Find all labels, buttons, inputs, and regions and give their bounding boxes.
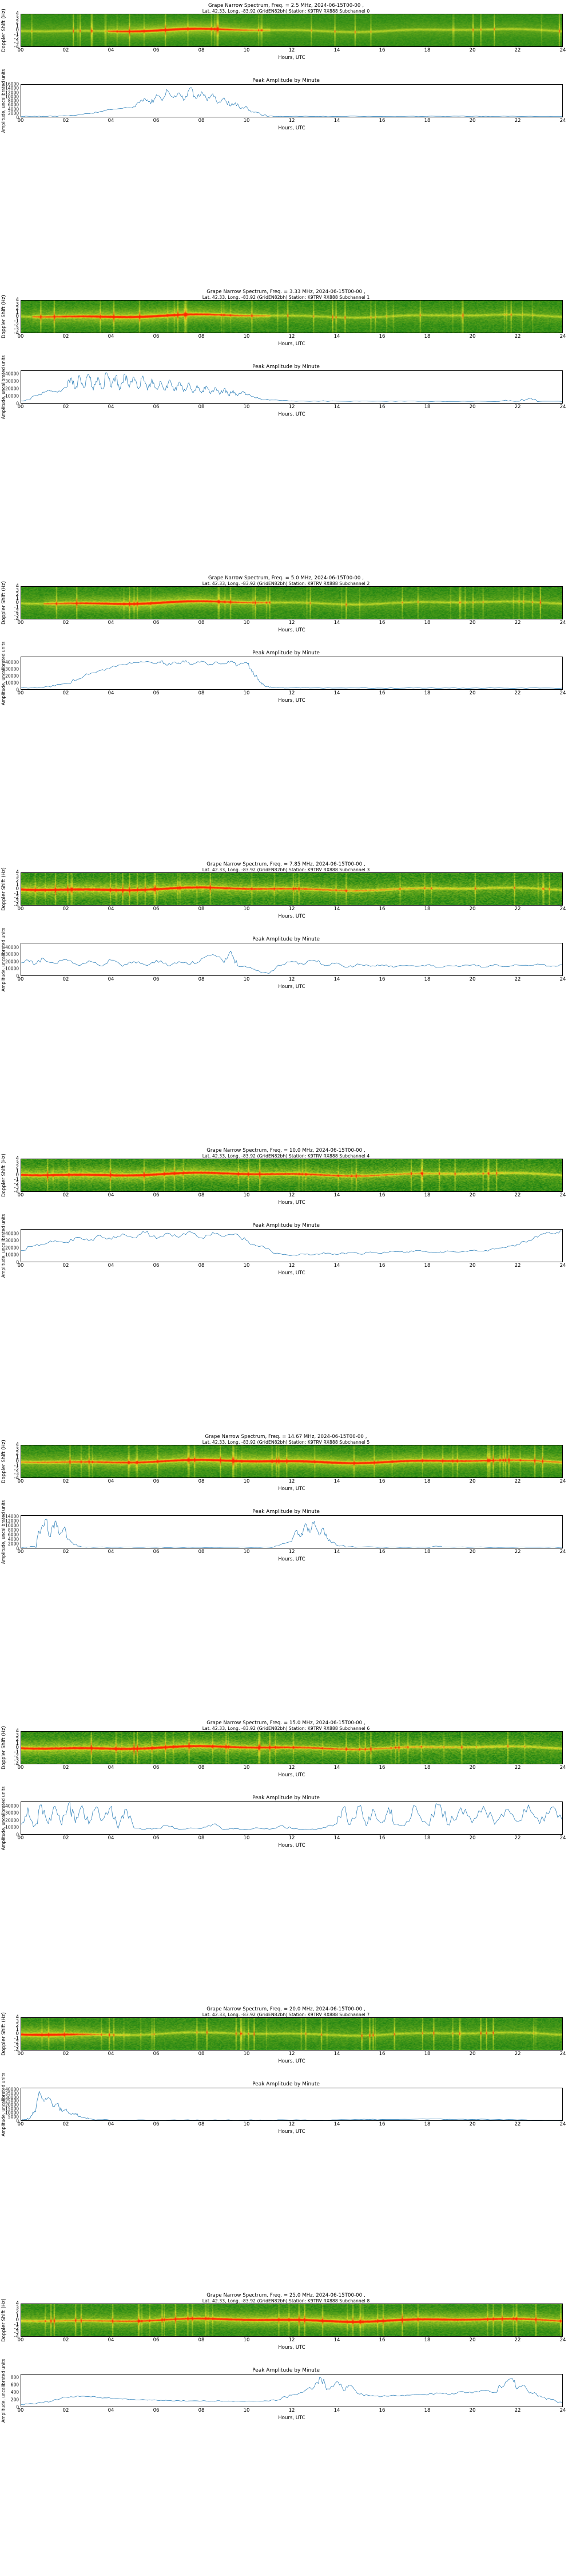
x-tick-label: 06 [153, 48, 160, 53]
x-tick-label: 08 [198, 1192, 205, 1198]
spectrogram-x-axis-label: Hours, UTC [21, 1200, 563, 1206]
amplitude-block: Peak Amplitude by Minute Amplitude, unca… [0, 1223, 572, 1276]
x-tick-label: 08 [198, 2337, 205, 2343]
y-tick-label: 40000 [5, 2087, 19, 2092]
x-tick-label: 00 [18, 2051, 24, 2057]
title-line-2: Lat. 42.33, Long. -83.92 (GridEN82bh) St… [0, 9, 572, 14]
title-line-2: Lat. 42.33, Long. -83.92 (GridEN82bh) St… [0, 1726, 572, 1732]
x-tick-label: 22 [515, 2121, 521, 2127]
amplitude-y-ticks: 010000200003000040000 [7, 1229, 21, 1262]
x-tick-label: 00 [18, 906, 24, 912]
x-tick-label: 04 [108, 1192, 114, 1198]
x-tick-label: 00 [18, 1479, 24, 1484]
x-tick-label: 10 [244, 2337, 250, 2343]
amplitude-plot-area [21, 1229, 563, 1262]
x-tick-label: 02 [63, 1835, 69, 1841]
amplitude-y-ticks: 0200400600800 [7, 2374, 21, 2407]
right-margin [563, 1801, 572, 1835]
spectrogram-x-axis-label: Hours, UTC [21, 1772, 563, 1778]
amplitude-plot-area [21, 2088, 563, 2121]
x-tick-label: 04 [108, 2408, 114, 2413]
title-line-2: Lat. 42.33, Long. -83.92 (GridEN82bh) St… [0, 1440, 572, 1445]
x-tick-label: 16 [379, 1835, 386, 1841]
x-tick-label: 20 [470, 2337, 476, 2343]
spectrogram-x-ticks: 00020406081012141618202224 [21, 2337, 563, 2345]
x-tick-label: 16 [379, 1192, 386, 1198]
x-tick-label: 14 [334, 977, 340, 982]
spectrogram-x-ticks: 00020406081012141618202224 [21, 1478, 563, 1486]
x-tick-label: 20 [470, 1192, 476, 1198]
x-tick-label: 16 [379, 404, 386, 410]
x-tick-label: 06 [153, 2337, 160, 2343]
x-tick-label: 10 [244, 2121, 250, 2127]
spectrogram-block: Grape Narrow Spectrum, Freq. = 14.67 MHz… [0, 1435, 572, 1492]
x-tick-label: 06 [153, 2408, 160, 2413]
x-tick-label: 08 [198, 1765, 205, 1771]
x-tick-label: 22 [515, 404, 521, 410]
right-margin [563, 943, 572, 976]
spectrogram-block: Grape Narrow Spectrum, Freq. = 2.5 MHz, … [0, 3, 572, 61]
y-tick-label: 800 [11, 2375, 19, 2380]
x-tick-label: 02 [63, 620, 69, 626]
spectrogram-x-ticks: 00020406081012141618202224 [21, 619, 563, 627]
right-margin [563, 300, 572, 333]
x-tick-label: 16 [379, 334, 386, 339]
x-tick-label: 04 [108, 334, 114, 339]
x-tick-label: 10 [244, 1479, 250, 1484]
x-tick-label: 24 [560, 2408, 566, 2413]
right-margin [563, 1731, 572, 1764]
panel-group-subchannel-8: Grape Narrow Spectrum, Freq. = 25.0 MHz,… [0, 2290, 572, 2576]
right-margin [563, 872, 572, 906]
amplitude-x-axis-label: Hours, UTC [21, 2129, 563, 2135]
x-tick-label: 14 [334, 1192, 340, 1198]
x-tick-label: 10 [244, 1765, 250, 1771]
x-tick-label: 02 [63, 1549, 69, 1555]
panel-group-subchannel-1: Grape Narrow Spectrum, Freq. = 3.33 MHz,… [0, 286, 572, 572]
amplitude-line-chart [21, 1515, 563, 1548]
amplitude-x-ticks: 00020406081012141618202224 [21, 1262, 563, 1270]
spectrogram-title: Grape Narrow Spectrum, Freq. = 2.5 MHz, … [0, 3, 572, 14]
x-tick-label: 22 [515, 1549, 521, 1555]
x-tick-label: 20 [470, 118, 476, 124]
amplitude-x-axis-label: Hours, UTC [21, 2415, 563, 2421]
x-tick-label: 20 [470, 977, 476, 982]
x-tick-label: 00 [18, 2337, 24, 2343]
x-tick-label: 14 [334, 1479, 340, 1484]
x-tick-label: 16 [379, 1479, 386, 1484]
x-tick-label: 04 [108, 1835, 114, 1841]
x-tick-label: 14 [334, 2408, 340, 2413]
x-tick-label: 02 [63, 2051, 69, 2057]
spectrogram-block: Grape Narrow Spectrum, Freq. = 25.0 MHz,… [0, 2293, 572, 2350]
x-tick-label: 14 [334, 118, 340, 124]
spectrogram-image [21, 1159, 563, 1192]
x-tick-label: 06 [153, 404, 160, 410]
x-tick-label: 12 [289, 334, 295, 339]
x-tick-label: 14 [334, 2337, 340, 2343]
x-tick-label: 08 [198, 1479, 205, 1484]
right-margin [563, 2088, 572, 2121]
x-tick-label: 12 [289, 2408, 295, 2413]
amplitude-line-chart [21, 1801, 563, 1835]
x-tick-label: 22 [515, 620, 521, 626]
x-tick-label: 00 [18, 620, 24, 626]
amplitude-x-axis-label: Hours, UTC [21, 1556, 563, 1562]
x-tick-label: 12 [289, 1835, 295, 1841]
x-tick-label: 16 [379, 2121, 386, 2127]
title-line-2: Lat. 42.33, Long. -83.92 (GridEN82bh) St… [0, 2013, 572, 2018]
amplitude-x-ticks: 00020406081012141618202224 [21, 2407, 563, 2415]
x-tick-label: 12 [289, 1765, 295, 1771]
amplitude-block: Peak Amplitude by Minute Amplitude, unca… [0, 937, 572, 990]
x-tick-label: 04 [108, 2121, 114, 2127]
x-tick-label: 12 [289, 1549, 295, 1555]
x-tick-label: 18 [424, 1835, 431, 1841]
x-tick-label: 02 [63, 690, 69, 696]
amplitude-line-chart [21, 84, 563, 117]
spectrogram-title: Grape Narrow Spectrum, Freq. = 20.0 MHz,… [0, 2007, 572, 2017]
x-tick-label: 02 [63, 404, 69, 410]
x-tick-label: 14 [334, 906, 340, 912]
x-tick-label: 20 [470, 2408, 476, 2413]
x-tick-label: 02 [63, 48, 69, 53]
x-tick-label: 14 [334, 2051, 340, 2057]
spectrogram-x-ticks: 00020406081012141618202224 [21, 1764, 563, 1772]
x-tick-label: 08 [198, 48, 205, 53]
spectrogram-y-axis-label: Doppler Shift (Hz) [0, 14, 8, 47]
amplitude-plot-title: Peak Amplitude by Minute [0, 364, 572, 370]
amplitude-block: Peak Amplitude by Minute Amplitude, unca… [0, 1509, 572, 1562]
spectrogram-title: Grape Narrow Spectrum, Freq. = 14.67 MHz… [0, 1435, 572, 1445]
x-tick-label: 06 [153, 906, 160, 912]
x-tick-label: 04 [108, 1765, 114, 1771]
y-tick-label: 2000 [8, 1542, 19, 1547]
x-tick-label: 20 [470, 620, 476, 626]
x-tick-label: 20 [470, 690, 476, 696]
spectrogram-plot-area [21, 872, 563, 906]
x-tick-label: 18 [424, 1263, 431, 1269]
x-tick-label: 06 [153, 2121, 160, 2127]
spectrogram-x-ticks: 00020406081012141618202224 [21, 333, 563, 341]
x-tick-label: 12 [289, 118, 295, 124]
x-tick-label: 18 [424, 977, 431, 982]
x-tick-label: 00 [18, 690, 24, 696]
spectrogram-image [21, 1445, 563, 1478]
y-tick-label: 8000 [8, 1528, 19, 1533]
amplitude-plot-title: Peak Amplitude by Minute [0, 1223, 572, 1228]
amplitude-y-ticks: 010000200003000040000 [7, 1801, 21, 1835]
spectrogram-y-axis-label: Doppler Shift (Hz) [0, 1159, 8, 1192]
x-tick-label: 14 [334, 48, 340, 53]
title-line-2: Lat. 42.33, Long. -83.92 (GridEN82bh) St… [0, 582, 572, 587]
x-tick-label: 08 [198, 1263, 205, 1269]
x-tick-label: 06 [153, 1765, 160, 1771]
x-tick-label: 16 [379, 118, 386, 124]
spectrogram-x-ticks: 00020406081012141618202224 [21, 1192, 563, 1200]
right-margin [563, 1515, 572, 1548]
spectrogram-x-axis-label: Hours, UTC [21, 55, 563, 61]
amplitude-x-ticks: 00020406081012141618202224 [21, 117, 563, 125]
x-tick-label: 22 [515, 906, 521, 912]
y-tick-label: 20000 [5, 959, 19, 964]
amplitude-plot-title: Peak Amplitude by Minute [0, 1795, 572, 1801]
y-tick-label: 20000 [5, 386, 19, 392]
x-tick-label: 04 [108, 1549, 114, 1555]
x-tick-label: 22 [515, 118, 521, 124]
amplitude-line-chart [21, 943, 563, 976]
x-tick-label: 08 [198, 404, 205, 410]
x-tick-label: 06 [153, 118, 160, 124]
spectrogram-block: Grape Narrow Spectrum, Freq. = 20.0 MHz,… [0, 2007, 572, 2064]
x-tick-label: 06 [153, 1835, 160, 1841]
x-tick-label: 24 [560, 2121, 566, 2127]
x-tick-label: 12 [289, 1479, 295, 1484]
x-tick-label: 00 [18, 1835, 24, 1841]
amplitude-plot-area [21, 370, 563, 404]
x-tick-label: 10 [244, 404, 250, 410]
spectrogram-y-ticks: 43210-1-2-3-4 [8, 2304, 21, 2337]
panel-group-subchannel-2: Grape Narrow Spectrum, Freq. = 5.0 MHz, … [0, 572, 572, 859]
x-tick-label: 10 [244, 118, 250, 124]
amplitude-line-chart [21, 2088, 563, 2121]
x-tick-label: 14 [334, 1765, 340, 1771]
spectrogram-y-ticks: 43210-1-2-3-4 [8, 300, 21, 333]
x-tick-label: 22 [515, 48, 521, 53]
x-tick-label: 10 [244, 977, 250, 982]
x-tick-label: 00 [18, 118, 24, 124]
x-tick-label: 10 [244, 1263, 250, 1269]
x-tick-label: 20 [470, 2121, 476, 2127]
x-tick-label: 00 [18, 1192, 24, 1198]
spectrogram-block: Grape Narrow Spectrum, Freq. = 10.0 MHz,… [0, 1148, 572, 1206]
x-tick-label: 18 [424, 1549, 431, 1555]
x-tick-label: 20 [470, 1263, 476, 1269]
x-tick-label: 02 [63, 1192, 69, 1198]
amplitude-line-chart [21, 2374, 563, 2407]
x-tick-label: 18 [424, 690, 431, 696]
x-tick-label: 24 [560, 2337, 566, 2343]
spectrogram-title: Grape Narrow Spectrum, Freq. = 3.33 MHz,… [0, 290, 572, 300]
x-tick-label: 10 [244, 1835, 250, 1841]
x-tick-label: 18 [424, 2051, 431, 2057]
x-tick-label: 12 [289, 906, 295, 912]
x-tick-label: 18 [424, 404, 431, 410]
x-tick-label: 08 [198, 690, 205, 696]
x-tick-label: 12 [289, 1192, 295, 1198]
x-tick-label: 00 [18, 1765, 24, 1771]
spectrogram-image [21, 300, 563, 333]
x-tick-label: 14 [334, 334, 340, 339]
x-tick-label: 16 [379, 977, 386, 982]
right-margin [563, 84, 572, 117]
x-tick-label: 10 [244, 1549, 250, 1555]
y-tick-label: 10000 [5, 394, 19, 399]
panel-group-subchannel-4: Grape Narrow Spectrum, Freq. = 10.0 MHz,… [0, 1145, 572, 1431]
spectrogram-x-axis-label: Hours, UTC [21, 2059, 563, 2064]
right-margin [563, 1229, 572, 1262]
x-tick-label: 10 [244, 334, 250, 339]
x-tick-label: 04 [108, 1479, 114, 1484]
x-tick-label: 04 [108, 118, 114, 124]
spectrogram-y-ticks: 43210-1-2-3-4 [8, 872, 21, 906]
x-tick-label: 08 [198, 2051, 205, 2057]
spectrogram-x-axis-label: Hours, UTC [21, 627, 563, 633]
spectrogram-plot-area [21, 586, 563, 619]
amplitude-x-ticks: 00020406081012141618202224 [21, 1835, 563, 1843]
amplitude-y-ticks: 0500010000150002000025000300003500040000 [7, 2088, 21, 2121]
x-tick-label: 06 [153, 620, 160, 626]
x-tick-label: 16 [379, 48, 386, 53]
y-tick-label: 10000 [5, 680, 19, 685]
y-tick-label: 6000 [8, 1532, 19, 1538]
x-tick-label: 22 [515, 1765, 521, 1771]
x-tick-label: 08 [198, 906, 205, 912]
panel-group-subchannel-0: Grape Narrow Spectrum, Freq. = 2.5 MHz, … [0, 0, 572, 286]
x-tick-label: 16 [379, 690, 386, 696]
x-tick-label: 06 [153, 1263, 160, 1269]
x-tick-label: 02 [63, 1479, 69, 1484]
x-tick-label: 04 [108, 977, 114, 982]
x-tick-label: 14 [334, 1263, 340, 1269]
spectrogram-y-axis-label: Doppler Shift (Hz) [0, 1731, 8, 1764]
panel-group-subchannel-7: Grape Narrow Spectrum, Freq. = 20.0 MHz,… [0, 2004, 572, 2290]
x-tick-label: 22 [515, 2337, 521, 2343]
x-tick-label: 12 [289, 2051, 295, 2057]
amplitude-y-ticks: 0200040006000800010000120001400016000 [7, 84, 21, 117]
x-tick-label: 24 [560, 1549, 566, 1555]
right-margin [563, 14, 572, 47]
x-tick-label: 08 [198, 1835, 205, 1841]
spectrogram-x-ticks: 00020406081012141618202224 [21, 2050, 563, 2059]
x-tick-label: 16 [379, 2408, 386, 2413]
x-tick-label: 04 [108, 2337, 114, 2343]
amplitude-plot-area [21, 1515, 563, 1548]
x-tick-label: 22 [515, 334, 521, 339]
x-tick-label: 20 [470, 2051, 476, 2057]
amplitude-plot-area [21, 943, 563, 976]
x-tick-label: 14 [334, 620, 340, 626]
spectrogram-y-ticks: 43210-1-2-3-4 [8, 2017, 21, 2050]
y-tick-label: 20000 [5, 1818, 19, 1823]
y-tick-label: 10000 [5, 1825, 19, 1830]
right-margin [563, 2017, 572, 2050]
x-tick-label: 00 [18, 2121, 24, 2127]
spectrogram-block: Grape Narrow Spectrum, Freq. = 3.33 MHz,… [0, 290, 572, 347]
x-tick-label: 04 [108, 620, 114, 626]
x-tick-label: 18 [424, 1192, 431, 1198]
x-tick-label: 18 [424, 118, 431, 124]
x-tick-label: 12 [289, 977, 295, 982]
title-line-2: Lat. 42.33, Long. -83.92 (GridEN82bh) St… [0, 295, 572, 301]
x-tick-label: 08 [198, 1549, 205, 1555]
x-tick-label: 00 [18, 2408, 24, 2413]
spectrogram-x-axis-label: Hours, UTC [21, 341, 563, 347]
spectrogram-x-axis-label: Hours, UTC [21, 2345, 563, 2350]
right-margin [563, 370, 572, 404]
x-tick-label: 10 [244, 906, 250, 912]
spectrogram-plot-area [21, 1445, 563, 1478]
amplitude-x-axis-label: Hours, UTC [21, 412, 563, 417]
y-tick-label: 4000 [8, 1537, 19, 1542]
x-tick-label: 16 [379, 1263, 386, 1269]
x-tick-label: 08 [198, 620, 205, 626]
x-tick-label: 24 [560, 977, 566, 982]
x-tick-label: 10 [244, 2051, 250, 2057]
x-tick-label: 12 [289, 620, 295, 626]
x-tick-label: 06 [153, 977, 160, 982]
y-tick-label: 30000 [5, 952, 19, 957]
x-tick-label: 22 [515, 690, 521, 696]
spectrogram-image [21, 2017, 563, 2050]
x-tick-label: 14 [334, 2121, 340, 2127]
amplitude-y-ticks: 010000200003000040000 [7, 657, 21, 690]
x-tick-label: 24 [560, 1835, 566, 1841]
x-tick-label: 18 [424, 48, 431, 53]
spectrogram-plot-area [21, 1159, 563, 1192]
spectrogram-image [21, 1731, 563, 1764]
x-tick-label: 02 [63, 2337, 69, 2343]
x-tick-label: 08 [198, 977, 205, 982]
amplitude-x-axis-label: Hours, UTC [21, 1270, 563, 1276]
amplitude-line-chart [21, 1229, 563, 1262]
x-tick-label: 12 [289, 2337, 295, 2343]
x-tick-label: 14 [334, 1549, 340, 1555]
x-tick-label: 06 [153, 1192, 160, 1198]
x-tick-label: 06 [153, 1479, 160, 1484]
x-tick-label: 24 [560, 334, 566, 339]
x-tick-label: 02 [63, 2408, 69, 2413]
x-tick-label: 20 [470, 1479, 476, 1484]
spectrogram-image [21, 14, 563, 47]
spectrogram-y-ticks: 43210-1-2-3-4 [8, 1445, 21, 1478]
x-tick-label: 00 [18, 404, 24, 410]
right-margin [563, 586, 572, 619]
amplitude-plot-title: Peak Amplitude by Minute [0, 937, 572, 942]
spectrogram-plot-area [21, 300, 563, 333]
x-tick-label: 16 [379, 1765, 386, 1771]
spectrogram-block: Grape Narrow Spectrum, Freq. = 7.85 MHz,… [0, 862, 572, 919]
x-tick-label: 24 [560, 118, 566, 124]
x-tick-label: 04 [108, 906, 114, 912]
spectrogram-x-axis-label: Hours, UTC [21, 914, 563, 919]
amplitude-x-ticks: 00020406081012141618202224 [21, 976, 563, 984]
x-tick-label: 18 [424, 2337, 431, 2343]
y-tick-label: 14000 [5, 1514, 19, 1519]
x-tick-label: 00 [18, 48, 24, 53]
amplitude-plot-title: Peak Amplitude by Minute [0, 650, 572, 656]
spectrogram-x-axis-label: Hours, UTC [21, 1486, 563, 1492]
x-tick-label: 18 [424, 2408, 431, 2413]
spectrogram-y-axis-label: Doppler Shift (Hz) [0, 2017, 8, 2050]
panel-group-subchannel-6: Grape Narrow Spectrum, Freq. = 15.0 MHz,… [0, 1717, 572, 2004]
x-tick-label: 24 [560, 2051, 566, 2057]
spectrogram-y-axis-label: Doppler Shift (Hz) [0, 2304, 8, 2337]
x-tick-label: 02 [63, 906, 69, 912]
y-tick-label: 20000 [5, 673, 19, 678]
y-tick-label: 10000 [5, 966, 19, 971]
x-tick-label: 06 [153, 334, 160, 339]
spectrogram-title: Grape Narrow Spectrum, Freq. = 5.0 MHz, … [0, 576, 572, 586]
spectrogram-y-axis-label: Doppler Shift (Hz) [0, 586, 8, 619]
x-tick-label: 00 [18, 334, 24, 339]
spectrogram-title: Grape Narrow Spectrum, Freq. = 10.0 MHz,… [0, 1148, 572, 1159]
title-line-2: Lat. 42.33, Long. -83.92 (GridEN82bh) St… [0, 2299, 572, 2304]
x-tick-label: 20 [470, 1835, 476, 1841]
spectrogram-y-ticks: 43210-1-2-3-4 [8, 1731, 21, 1764]
x-tick-label: 18 [424, 906, 431, 912]
x-tick-label: 12 [289, 48, 295, 53]
